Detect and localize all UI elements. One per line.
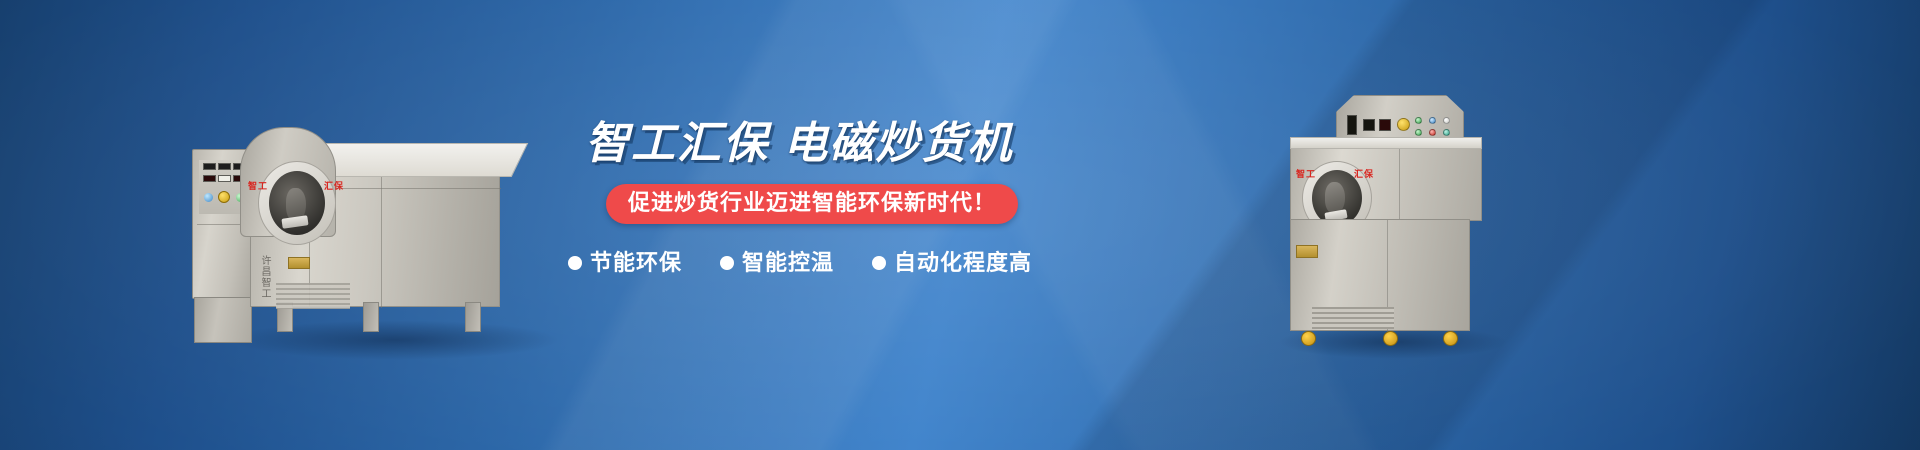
machine-left-image: 智工 汇保 许昌智工 (180, 105, 560, 340)
machine-right-vent-grille (1312, 307, 1394, 329)
led-white-1-icon (1443, 117, 1450, 124)
drum-inner-tray (282, 215, 309, 229)
led-blue-1-icon (1429, 117, 1436, 124)
display-4-icon (203, 175, 216, 182)
led-green-1-icon (1415, 117, 1422, 124)
feature-label: 智能控温 (742, 252, 834, 274)
display-2-icon (1363, 119, 1375, 131)
machine-left-cabinet-base (194, 297, 252, 343)
emergency-stop-knob-icon (218, 191, 230, 203)
feature-item-automation: 自动化程度高 (872, 252, 1032, 274)
machine-left-drum-ring (258, 161, 336, 245)
machine-left-vertical-text: 许昌智工 (258, 255, 270, 299)
banner-ribbon: 促进炒货行业迈进智能环保新时代！ (606, 184, 1018, 224)
led-green-2-icon (1415, 129, 1422, 136)
led-teal-1-icon (1443, 129, 1450, 136)
machine-left-leg-3 (465, 302, 481, 332)
banner-copy-block: 智工汇保 电磁炒货机 促进炒货行业迈进智能环保新时代！ 节能环保 智能控温 自动… (560, 108, 1030, 338)
machine-left-leg-2 (363, 302, 379, 332)
machine-left-brand-right: 汇保 (324, 179, 344, 192)
upper-seam-v (1399, 144, 1400, 222)
machine-left-vent-grille (276, 283, 350, 309)
machine-right-caster-1 (1301, 331, 1316, 346)
led-red-1-icon (1429, 129, 1436, 136)
banner-feature-list: 节能环保 智能控温 自动化程度高 (568, 252, 1032, 274)
machine-left-brand-left: 智工 (248, 179, 268, 192)
emergency-stop-knob-icon (1397, 118, 1410, 131)
machine-right-brand-right: 汇保 (1354, 167, 1374, 180)
machine-right-brand-left: 智工 (1296, 167, 1316, 180)
led-green-1-icon (204, 193, 213, 202)
machine-right-caster-3 (1443, 331, 1458, 346)
banner-headline: 智工汇保 电磁炒货机 (585, 122, 1013, 166)
bullet-dot-icon (872, 256, 886, 270)
feature-label: 节能环保 (590, 252, 682, 274)
machine-left-drum-opening (269, 171, 325, 235)
feature-item-energy-saving: 节能环保 (568, 252, 682, 274)
feature-item-smart-temperature: 智能控温 (720, 252, 834, 274)
machine-right-spec-plate (1296, 245, 1318, 258)
feature-label: 自动化程度高 (894, 252, 1032, 274)
display-3-icon (1379, 119, 1391, 131)
machine-right-image: 智工 汇保 (1290, 95, 1505, 345)
machine-right-control-panel (1345, 114, 1455, 138)
machine-right-caster-2 (1383, 331, 1398, 346)
bullet-dot-icon (720, 256, 734, 270)
machine-left-spec-plate (288, 257, 310, 269)
bullet-dot-icon (568, 256, 582, 270)
display-1-icon (203, 163, 216, 170)
machine-right-top-surface (1290, 137, 1482, 149)
display-5-icon (218, 175, 231, 182)
promo-banner: 智工 汇保 许昌智工 智工汇保 电磁炒货机 促进炒货行业迈进智能环保新时代！ 节… (0, 0, 1920, 450)
display-2-icon (218, 163, 231, 170)
display-1-icon (1347, 115, 1357, 135)
banner-ribbon-text: 促进炒货行业迈进智能环保新时代！ (628, 190, 996, 215)
